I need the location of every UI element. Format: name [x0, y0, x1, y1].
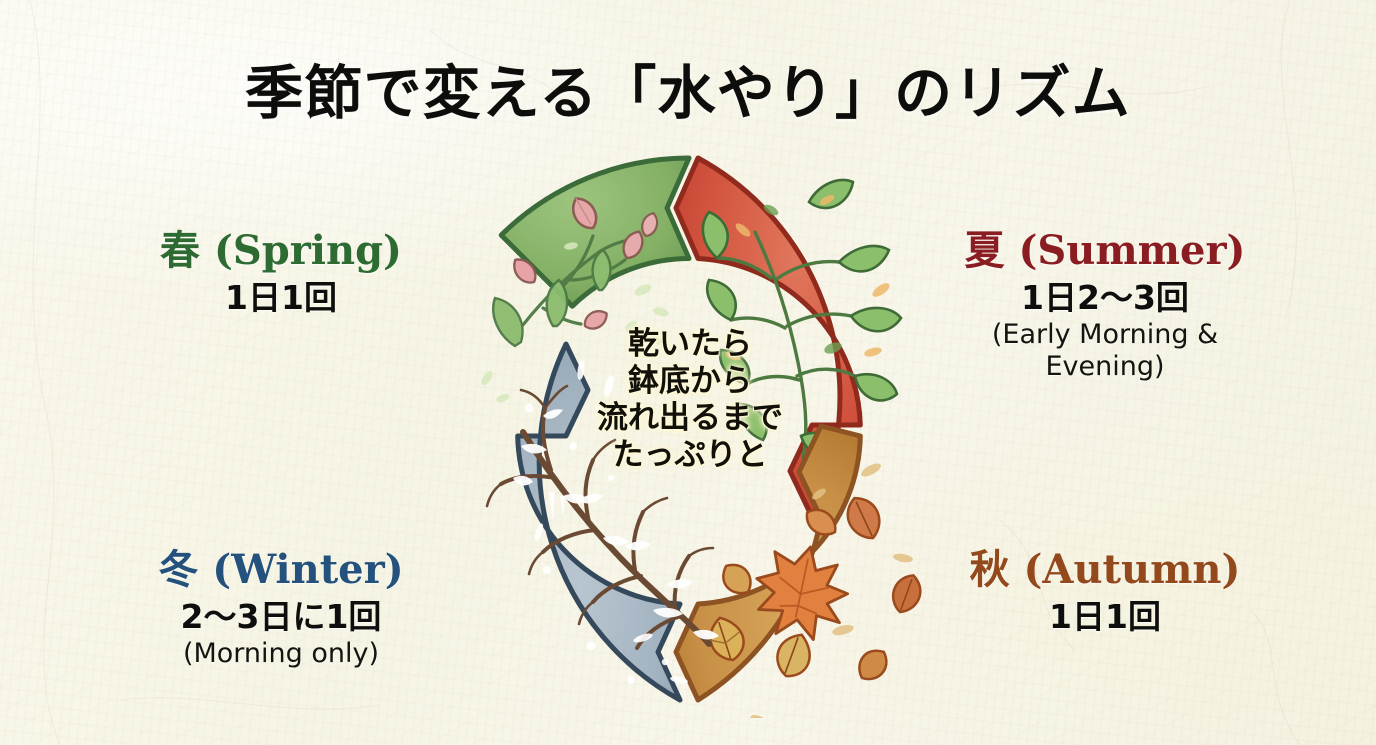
season-label-spring: 春 (Spring) 1日1回: [116, 228, 446, 317]
infographic-canvas: 季節で変える「水やり」のリズム: [0, 0, 1376, 745]
season-frequency-summer: 1日2〜3回: [940, 278, 1270, 318]
season-note-summer: (Early Morning & Evening): [940, 319, 1270, 383]
season-heading-autumn: 秋 (Autumn): [940, 547, 1270, 593]
ring-segment-winter-shape: [518, 344, 680, 700]
season-ring-svg: [403, 140, 975, 718]
season-frequency-winter: 2〜3日に1回: [116, 597, 446, 637]
season-label-summer: 夏 (Summer) 1日2〜3回 (Early Morning & Eveni…: [940, 228, 1270, 383]
ring-segment-autumn-shape: [676, 426, 860, 700]
season-heading-spring: 春 (Spring): [116, 228, 446, 274]
season-heading-winter: 冬 (Winter): [116, 547, 446, 593]
season-frequency-autumn: 1日1回: [940, 597, 1270, 637]
page-title: 季節で変える「水やり」のリズム: [0, 46, 1376, 130]
season-cycle-diagram: [403, 140, 975, 718]
ring-segment-autumn[interactable]: [676, 426, 926, 718]
season-label-autumn: 秋 (Autumn) 1日1回: [940, 547, 1270, 636]
season-frequency-spring: 1日1回: [116, 278, 446, 318]
season-note-winter: (Morning only): [116, 638, 446, 670]
season-heading-summer: 夏 (Summer): [940, 228, 1270, 274]
season-label-winter: 冬 (Winter) 2〜3日に1回 (Morning only): [116, 547, 446, 670]
